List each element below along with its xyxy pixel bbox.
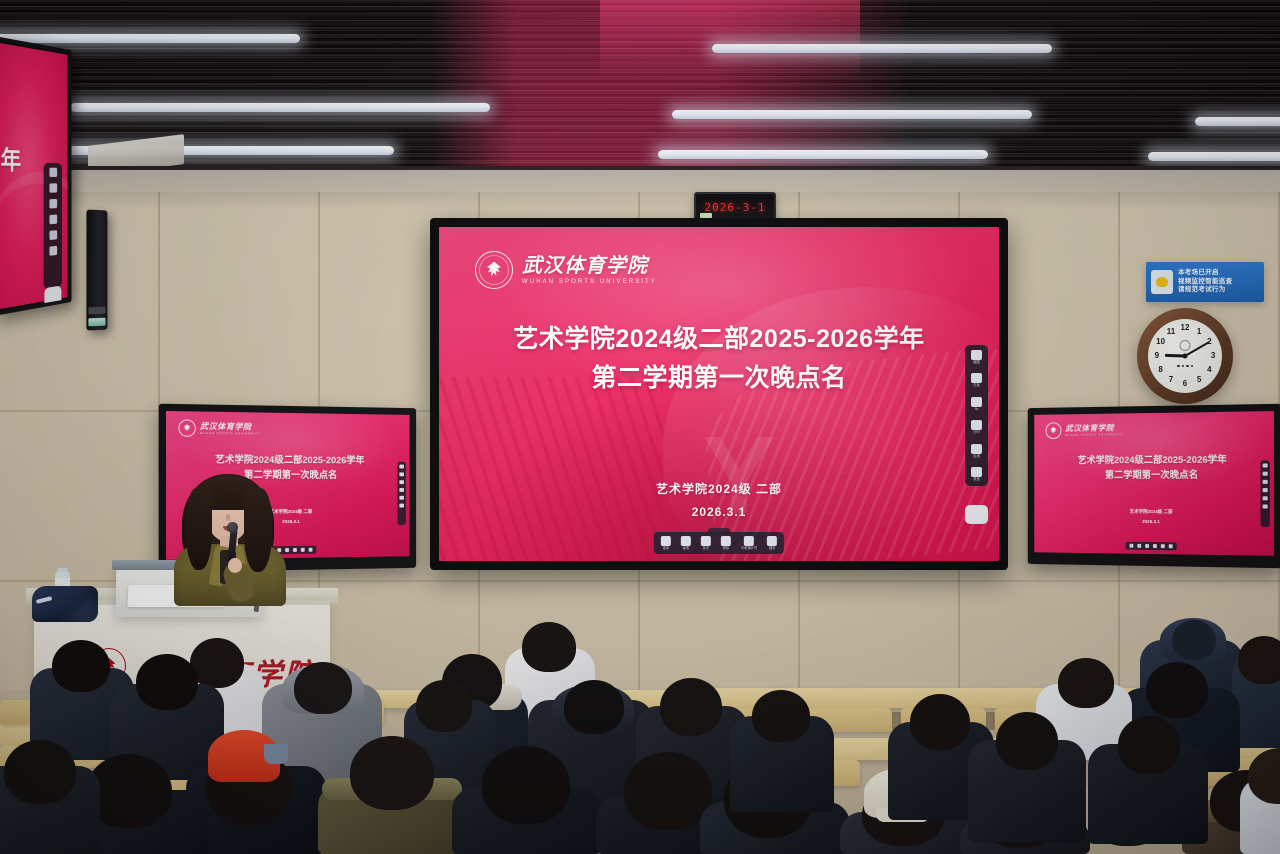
toolbar-label: 录音	[973, 478, 980, 481]
timer-icon	[971, 420, 982, 430]
camera-icon	[971, 397, 982, 407]
university-seal-icon	[475, 251, 513, 289]
toolbar-item-apps[interactable]: 应用	[971, 444, 982, 458]
grid-icon[interactable]	[49, 230, 57, 240]
speaker-label	[88, 307, 105, 315]
notice-line-3: 请规范考试行为	[1178, 287, 1232, 294]
highlighter-icon[interactable]	[1145, 544, 1149, 548]
main-presentation-display[interactable]: Y 武汉体育学院 WUHAN SPORTS UNIVERSITY 艺术学院202…	[430, 218, 1008, 570]
slide-title-line1: 艺术学院2024级二部2025-2026学年	[439, 320, 999, 359]
highlighter-icon	[701, 536, 711, 546]
clock-numeral: 6	[1183, 380, 1187, 388]
microphone-icon	[971, 467, 982, 477]
clock-numeral: 8	[1158, 366, 1162, 374]
speaker-indicator	[88, 318, 105, 327]
cap-brim	[264, 744, 288, 764]
toolbar-item-eraser[interactable]: 擦除	[721, 536, 731, 550]
screenshot-icon[interactable]	[1263, 463, 1268, 467]
university-logo: 武汉体育学院 WUHAN SPORTS UNIVERSITY	[1045, 421, 1123, 439]
notice-line-1: 本考场已开启	[1178, 270, 1232, 277]
university-seal-icon	[1045, 422, 1061, 439]
timer-icon[interactable]	[399, 488, 404, 492]
clock-numeral: 5	[1197, 376, 1201, 384]
slide-subtitle: 艺术学院2024级 二部	[439, 480, 999, 497]
slatted-ceiling	[0, 0, 1280, 182]
ceiling-light	[658, 150, 988, 159]
exam-room-notice: 本考场已开启 视频监控智能巡查 请规范考试行为	[1146, 262, 1264, 302]
pen-icon[interactable]	[1137, 544, 1141, 548]
monitor-side-toolbar[interactable]	[1261, 460, 1270, 527]
led-date-text: 2026-3-1	[705, 201, 766, 214]
microphone-head-icon	[227, 522, 238, 533]
toolbar-label: 翻页	[769, 547, 775, 550]
slide-date: 2026.3.1	[439, 505, 999, 519]
monitor-bottom-toolbar[interactable]	[1126, 542, 1177, 551]
presenter-nose	[226, 514, 230, 521]
grid-icon[interactable]	[1263, 496, 1268, 500]
monitor-title-line1: 艺术学院2024级二部2025-2026学年	[1034, 452, 1274, 469]
timer-icon[interactable]	[49, 215, 57, 225]
clock-numeral: 10	[1156, 338, 1165, 346]
ceiling-light	[1148, 152, 1280, 161]
university-name-cn: 武汉体育学院	[1065, 424, 1123, 433]
grid-icon[interactable]	[399, 496, 404, 500]
document-icon[interactable]	[49, 183, 57, 192]
ceiling-light	[672, 110, 1032, 119]
toolbar-label: 30秒倒计时	[741, 547, 757, 550]
timer-icon[interactable]	[1263, 488, 1268, 492]
eagle-emblem-icon	[184, 424, 191, 432]
presenter-hair-right	[244, 488, 272, 572]
presenter-hair-left	[186, 488, 212, 570]
eagle-emblem-icon	[487, 262, 502, 279]
monitor-slide-title: 艺术学院2024级二部2025-2026学年 第二学期第一次晚点名	[1034, 452, 1274, 483]
right-side-monitor[interactable]: 武汉体育学院 WUHAN SPORTS UNIVERSITY 艺术学院2024级…	[1028, 404, 1280, 568]
wall-column-speaker	[86, 210, 107, 331]
university-name-cn: 武汉体育学院	[200, 422, 261, 431]
toolbar-item-page[interactable]: 翻页	[767, 536, 777, 550]
eraser-icon[interactable]	[293, 548, 297, 552]
university-name-en: WUHAN SPORTS UNIVERSITY	[200, 431, 261, 435]
microphone-icon[interactable]	[49, 246, 57, 256]
presentation-slide: Y 武汉体育学院 WUHAN SPORTS UNIVERSITY 艺术学院202…	[439, 227, 999, 561]
toolbar-item-screenshot[interactable]: 截图	[971, 350, 982, 364]
document-icon	[971, 373, 982, 383]
wall-clock: 12 1 2 3 4 5 6 7 8 9 10 11	[1137, 308, 1233, 404]
right-monitor-slide: 武汉体育学院 WUHAN SPORTS UNIVERSITY 艺术学院2024级…	[1034, 411, 1274, 556]
screenshot-icon[interactable]	[399, 465, 404, 469]
ceiling-light	[70, 103, 490, 112]
toolbar-label: 画笔	[683, 547, 689, 550]
toolbar-label: 擦除	[723, 547, 729, 550]
grid-icon	[971, 444, 982, 454]
toolbar-label: 截图	[973, 361, 980, 364]
camera-icon[interactable]	[49, 199, 57, 209]
slide-side-toolbar[interactable]: 截图 白板 5s 计时 应用	[965, 345, 988, 486]
toolbar-label: 计时	[973, 431, 980, 434]
university-seal-icon	[178, 419, 195, 437]
cursor-icon[interactable]	[1130, 544, 1134, 548]
toolbar-item-pen[interactable]: 画笔	[681, 536, 691, 550]
toolbar-item-highlighter[interactable]: 荧光	[701, 536, 711, 550]
left-display-slide: 年	[0, 43, 67, 309]
monitor-date: 2026.3.1	[1034, 518, 1274, 525]
university-name-en: WUHAN SPORTS UNIVERSITY	[522, 279, 657, 285]
home-button[interactable]	[965, 505, 988, 524]
folded-navy-jacket	[32, 586, 98, 622]
lecture-hall-photo: 年 2026-3-1 Y	[0, 0, 1280, 854]
microphone-icon[interactable]	[1263, 504, 1268, 508]
clock-numeral: 7	[1169, 376, 1173, 384]
left-display-visible-char: 年	[1, 140, 22, 177]
eagle-emblem-icon	[1050, 427, 1057, 435]
document-icon[interactable]	[1263, 472, 1268, 476]
toolbar-item-countdown[interactable]: 30秒倒计时	[741, 536, 757, 550]
toolbar-item-whiteboard[interactable]: 白板	[971, 373, 982, 387]
university-logo: 武汉体育学院 WUHAN SPORTS UNIVERSITY	[178, 419, 260, 437]
toolbar-item-timer[interactable]: 计时	[971, 420, 982, 434]
monitor-side-toolbar[interactable]	[397, 462, 405, 526]
presenter-hand	[228, 558, 242, 573]
notice-line-2: 视频监控智能巡查	[1178, 279, 1232, 286]
university-name-en: WUHAN SPORTS UNIVERSITY	[1065, 433, 1123, 437]
shape-icon[interactable]	[1161, 544, 1165, 548]
monitor-title-line2: 第二学期第一次晚点名	[1034, 468, 1274, 484]
toolbar-label: 白板	[973, 384, 980, 387]
wall-top-shadow	[0, 170, 1280, 210]
toolbar-label: 5s	[975, 408, 979, 411]
camera-icon[interactable]	[399, 480, 404, 484]
eraser-icon	[721, 536, 731, 546]
left-display-toolbar[interactable]	[44, 163, 62, 289]
microphone-icon[interactable]	[399, 504, 404, 508]
ceiling-light	[712, 44, 1052, 53]
screenshot-icon	[971, 350, 982, 360]
slide-bottom-toolbar[interactable]: 选择 画笔 荧光 擦除 30秒倒计时	[654, 532, 784, 554]
ceiling-light	[0, 34, 300, 43]
document-icon[interactable]	[399, 472, 404, 476]
toolbar-label: 荧光	[703, 547, 709, 550]
highlighter-icon[interactable]	[285, 548, 289, 552]
slide-title: 艺术学院2024级二部2025-2026学年 第二学期第一次晚点名	[439, 320, 999, 398]
toolbar-label: 应用	[973, 455, 980, 458]
page-icon	[767, 536, 777, 546]
toolbar-item-cursor[interactable]: 选择	[661, 536, 671, 550]
slide-title-line2: 第二学期第一次晚点名	[439, 359, 999, 398]
ceiling-light	[1195, 117, 1280, 126]
clock-face: 12 1 2 3 4 5 6 7 8 9 10 11	[1148, 319, 1222, 393]
surveillance-camera-icon	[1151, 270, 1173, 294]
clock-center-pin	[1183, 354, 1188, 359]
cursor-icon	[661, 536, 671, 546]
clock-numeral: 9	[1155, 352, 1159, 360]
notice-text: 本考场已开启 视频监控智能巡查 请规范考试行为	[1178, 270, 1232, 293]
page-icon[interactable]	[1169, 544, 1173, 548]
toolbar-label: 选择	[663, 547, 669, 550]
eraser-icon[interactable]	[1153, 544, 1157, 548]
shape-icon	[744, 536, 754, 546]
clock-brand-dots	[1177, 365, 1193, 368]
presenter	[176, 470, 280, 600]
pen-icon	[681, 536, 691, 546]
monitor-brand-label: MAXHUB	[1141, 570, 1162, 574]
university-name-cn: 武汉体育学院	[522, 256, 657, 276]
toolbar-item-camera[interactable]: 5s	[971, 397, 982, 411]
monitor-title-line1: 艺术学院2024级二部2025-2026学年	[166, 452, 410, 469]
clock-numeral: 1	[1197, 328, 1201, 336]
clock-subdial	[1180, 340, 1191, 351]
camera-icon[interactable]	[1263, 480, 1268, 484]
slide-background-texture	[439, 377, 663, 561]
screenshot-icon[interactable]	[49, 168, 57, 177]
left-angled-wall-display[interactable]: 年	[0, 36, 72, 316]
monitor-subtitle: 艺术学院2024级 二部	[1034, 508, 1274, 515]
page-icon[interactable]	[309, 548, 313, 552]
clock-numeral: 11	[1167, 328, 1175, 336]
clock-numeral: 12	[1181, 324, 1190, 332]
clock-numeral: 4	[1207, 366, 1211, 374]
shape-icon[interactable]	[301, 548, 305, 552]
clock-numeral: 3	[1211, 352, 1215, 360]
toolbar-item-record[interactable]: 录音	[971, 467, 982, 481]
university-logo: 武汉体育学院 WUHAN SPORTS UNIVERSITY	[475, 251, 657, 289]
